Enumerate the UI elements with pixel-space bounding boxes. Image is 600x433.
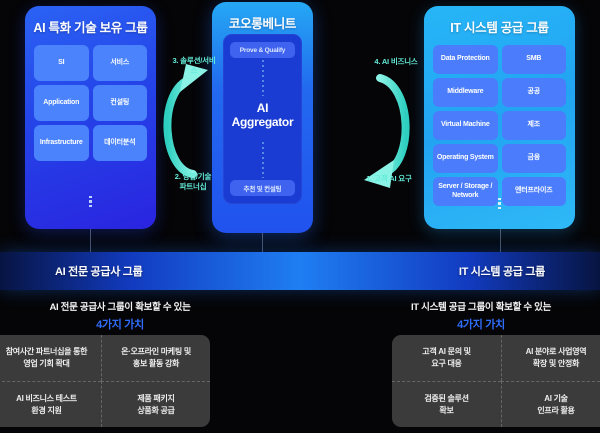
value-heading-left: AI 전문 공급사 그룹이 확보할 수 있는 4가지 가치 xyxy=(0,290,300,332)
value-cell-line1: AI 기술 xyxy=(537,393,574,405)
tile-application[interactable]: Application xyxy=(34,85,89,121)
tile-finance[interactable]: 금융 xyxy=(502,144,567,173)
value-section-ai-supplier: AI 전문 공급사 그룹이 확보할 수 있는 4가지 가치 참여사간 파트너십을… xyxy=(0,290,300,433)
value-cell-line1: 검증된 솔루션 xyxy=(424,393,468,405)
ai-aggregator-line1: AI xyxy=(223,102,302,116)
vertical-ellipsis-icon xyxy=(424,198,575,210)
tile-si[interactable]: SI xyxy=(34,45,89,81)
ai-aggregator-line2: Aggregator xyxy=(223,116,302,130)
panel-center-title: 코오롱베니트 xyxy=(212,13,313,32)
arrow-label-step-2: 2. 영업/기술 파트너십 xyxy=(168,172,218,192)
ai-aggregator-label: AI Aggregator xyxy=(223,102,302,130)
panel-left-title: AI 특화 기술 보유 그룹 xyxy=(25,17,156,36)
value-cell-line2: 상품화 공급 xyxy=(137,405,174,417)
ai-aggregator-card: Prove & Qualify AI Aggregator 추천 및 컨설팅 xyxy=(223,34,302,204)
value-heading-right-line2: 4가지 가치 xyxy=(362,316,600,332)
value-cell-line1: 참여사간 파트너십을 통한 xyxy=(6,346,88,358)
arrow-right-path xyxy=(380,78,406,172)
chip-recommend-consulting[interactable]: 추천 및 컨설팅 xyxy=(230,180,295,196)
tile-manufacturing[interactable]: 제조 xyxy=(502,111,567,140)
arrow-label-step-2-line2: 파트너십 xyxy=(168,182,218,192)
arrow-label-step-1: 1. 고객 AI 요구 xyxy=(358,174,420,184)
connector-line-right xyxy=(500,229,501,252)
tile-data-analysis[interactable]: 데이터분석 xyxy=(93,125,148,161)
panel-it-system-group: IT 시스템 공급 그룹 Data Protection SMB Middlew… xyxy=(424,6,575,229)
value-cell: 제품 패키지 상품화 공급 xyxy=(101,381,210,427)
tile-service[interactable]: 서비스 xyxy=(93,45,148,81)
value-heading-right: IT 시스템 공급 그룹이 확보할 수 있는 4가지 가치 xyxy=(300,290,600,332)
value-cell-line1: 고객 AI 문의 및 xyxy=(422,346,470,358)
connector-line-left xyxy=(90,229,91,252)
tile-operating-system[interactable]: Operating System xyxy=(433,144,498,173)
value-heading-left-line2: 4가지 가치 xyxy=(0,316,240,332)
arrow-right-head xyxy=(364,160,394,188)
value-cell: AI 기술 인프라 활용 xyxy=(501,381,600,427)
value-heading-left-line1: AI 전문 공급사 그룹이 확보할 수 있는 xyxy=(0,299,240,313)
arrow-left-path xyxy=(167,80,193,174)
arrow-left-head xyxy=(180,64,208,92)
value-cell-line2: 영업 기회 확대 xyxy=(6,358,88,370)
chip-prove-qualify[interactable]: Prove & Qualify xyxy=(230,42,295,58)
panel-kolon-benit: 코오롱베니트 Prove & Qualify AI Aggregator 추천 … xyxy=(212,2,313,233)
connector-dotted-top xyxy=(262,60,263,96)
connector-dotted-bottom xyxy=(262,142,263,178)
value-cell-line1: 제품 패키지 xyxy=(137,393,174,405)
arrow-label-step-3: 3. 솔루션/서비스 xyxy=(171,56,217,76)
value-cell: 온·오프라인 마케팅 및 홍보 활동 강화 xyxy=(101,335,210,381)
value-cell-line1: 온·오프라인 마케팅 및 xyxy=(121,346,191,358)
tile-middleware[interactable]: Middleware xyxy=(433,78,498,107)
value-cell-line2: 인프라 활용 xyxy=(537,405,574,417)
tile-infrastructure[interactable]: Infrastructure xyxy=(34,125,89,161)
panel-left-tile-grid: SI 서비스 Application 컨설팅 Infrastructure 데이… xyxy=(34,45,147,161)
diagram-area: AI 특화 기술 보유 그룹 SI 서비스 Application 컨설팅 In… xyxy=(0,0,600,250)
connector-line-center xyxy=(262,233,263,252)
tile-consulting[interactable]: 컨설팅 xyxy=(93,85,148,121)
arrow-label-step-2-line1: 2. 영업/기술 xyxy=(168,172,218,182)
arrow-label-step-4: 4. AI 비즈니스 xyxy=(370,57,422,67)
tile-public[interactable]: 공공 xyxy=(502,78,567,107)
value-cell-line1: AI 분야로 사업영역 xyxy=(526,346,587,358)
infographic-root: AI 특화 기술 보유 그룹 SI 서비스 Application 컨설팅 In… xyxy=(0,0,600,433)
panel-right-tile-grid: Data Protection SMB Middleware 공공 Virtua… xyxy=(433,45,566,206)
value-cell: AI 비즈니스 테스트 환경 지원 xyxy=(0,381,101,427)
value-cell-line2: 확보 xyxy=(424,405,468,417)
value-card-right: 고객 AI 문의 및 요구 대응 AI 분야로 사업영역 확장 및 안정화 검증… xyxy=(392,335,600,427)
value-cell-line2: 요구 대응 xyxy=(422,358,470,370)
value-heading-right-line1: IT 시스템 공급 그룹이 확보할 수 있는 xyxy=(362,299,600,313)
panel-right-title: IT 시스템 공급 그룹 xyxy=(424,17,575,36)
banner-label-left: AI 전문 공급사 그룹 xyxy=(55,263,142,279)
value-cell: 검증된 솔루션 확보 xyxy=(392,381,501,427)
tile-smb[interactable]: SMB xyxy=(502,45,567,74)
group-banner: AI 전문 공급사 그룹 IT 시스템 공급 그룹 xyxy=(0,252,600,290)
value-cell-line2: 환경 지원 xyxy=(16,405,77,417)
banner-label-right: IT 시스템 공급 그룹 xyxy=(459,263,545,279)
panel-ai-tech-group: AI 특화 기술 보유 그룹 SI 서비스 Application 컨설팅 In… xyxy=(25,6,156,229)
value-cell-line1: AI 비즈니스 테스트 xyxy=(16,393,77,405)
tile-data-protection[interactable]: Data Protection xyxy=(433,45,498,74)
value-cell: AI 분야로 사업영역 확장 및 안정화 xyxy=(501,335,600,381)
value-section-it-system: IT 시스템 공급 그룹이 확보할 수 있는 4가지 가치 고객 AI 문의 및… xyxy=(300,290,600,433)
value-cell-line2: 홍보 활동 강화 xyxy=(121,358,191,370)
tile-virtual-machine[interactable]: Virtual Machine xyxy=(433,111,498,140)
value-sections: AI 전문 공급사 그룹이 확보할 수 있는 4가지 가치 참여사간 파트너십을… xyxy=(0,290,600,433)
value-cell-line2: 확장 및 안정화 xyxy=(526,358,587,370)
value-card-left: 참여사간 파트너십을 통한 영업 기회 확대 온·오프라인 마케팅 및 홍보 활… xyxy=(0,335,210,427)
vertical-ellipsis-icon xyxy=(25,196,156,208)
value-cell: 고객 AI 문의 및 요구 대응 xyxy=(392,335,501,381)
value-cell: 참여사간 파트너십을 통한 영업 기회 확대 xyxy=(0,335,101,381)
